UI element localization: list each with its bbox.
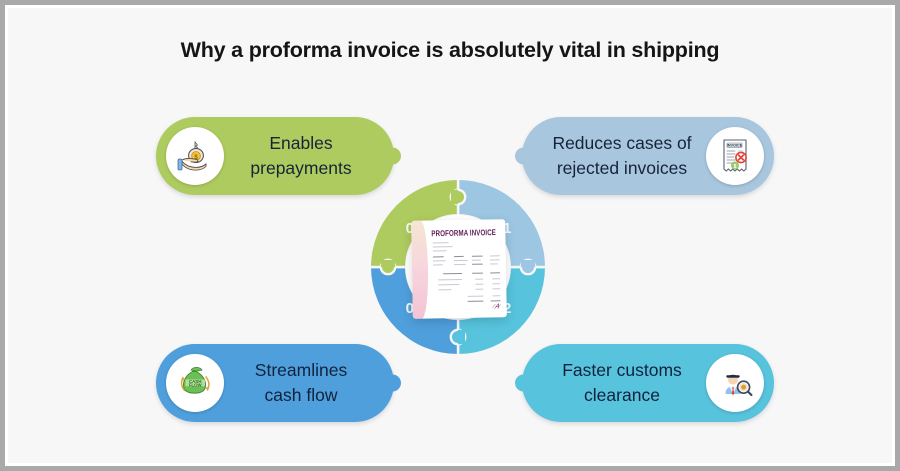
customs-officer-glyph: [713, 361, 757, 405]
benefit-pill-reduces-rejected-invoices[interactable]: Reduces cases of rejected invoices INVOI…: [522, 117, 774, 195]
benefit-pill-streamlines-cash-flow[interactable]: CASH FLOW Streamlines cash flow: [156, 344, 394, 422]
cash-flow-bag-icon: CASH FLOW: [166, 354, 224, 412]
benefit-label-line1: Streamlines: [255, 360, 347, 380]
benefit-label-faster-customs-clearance: Faster customs clearance: [538, 358, 706, 408]
benefit-pill-faster-customs-clearance[interactable]: Faster customs clearance: [522, 344, 774, 422]
benefit-label-line2: prepayments: [250, 158, 351, 178]
rejected-invoice-glyph: INVOICE $: [713, 134, 757, 178]
hand-holding-money-bag-glyph: $: [173, 134, 217, 178]
benefit-label-line1: Faster customs: [562, 360, 682, 380]
rejected-invoice-icon: INVOICE $: [706, 127, 764, 185]
hand-holding-money-bag-icon: $: [166, 127, 224, 185]
benefit-label-line2: rejected invoices: [557, 158, 687, 178]
page-title: Why a proforma invoice is absolutely vit…: [8, 38, 892, 63]
puzzle-nub-left-bottom: [384, 375, 401, 392]
benefit-label-line2: cash flow: [265, 385, 338, 405]
invoice-document-title: PROFORMA INVOICE: [431, 228, 496, 239]
customs-officer-icon: [706, 354, 764, 412]
invoice-signature: ⁄𝐴⁄: [493, 303, 500, 311]
invoice-decorative-swash: [411, 221, 429, 319]
proforma-invoice-document-icon: PROFORMA INVOICE ⁄𝐴⁄: [411, 219, 507, 319]
puzzle-nub-right-bottom: [515, 375, 532, 392]
benefit-pill-enables-prepayments[interactable]: $ Enables prepayments: [156, 117, 394, 195]
benefit-label-reduces-rejected-invoices: Reduces cases of rejected invoices: [538, 131, 706, 181]
svg-text:$: $: [734, 164, 737, 170]
benefit-label-line1: Reduces cases of: [552, 133, 691, 153]
cash-flow-bag-glyph: CASH FLOW: [173, 361, 217, 405]
benefit-label-streamlines-cash-flow: Streamlines cash flow: [224, 358, 378, 408]
puzzle-nub-right-top: [515, 148, 532, 165]
benefit-label-line1: Enables: [269, 133, 332, 153]
puzzle-nub-left-top: [384, 148, 401, 165]
infographic-canvas: Why a proforma invoice is absolutely vit…: [5, 5, 895, 466]
benefit-label-line2: clearance: [584, 385, 660, 405]
benefit-label-enables-prepayments: Enables prepayments: [224, 131, 378, 181]
svg-text:FLOW: FLOW: [189, 382, 203, 387]
svg-text:INVOICE: INVOICE: [727, 144, 743, 148]
infographic-frame: Why a proforma invoice is absolutely vit…: [0, 0, 900, 471]
